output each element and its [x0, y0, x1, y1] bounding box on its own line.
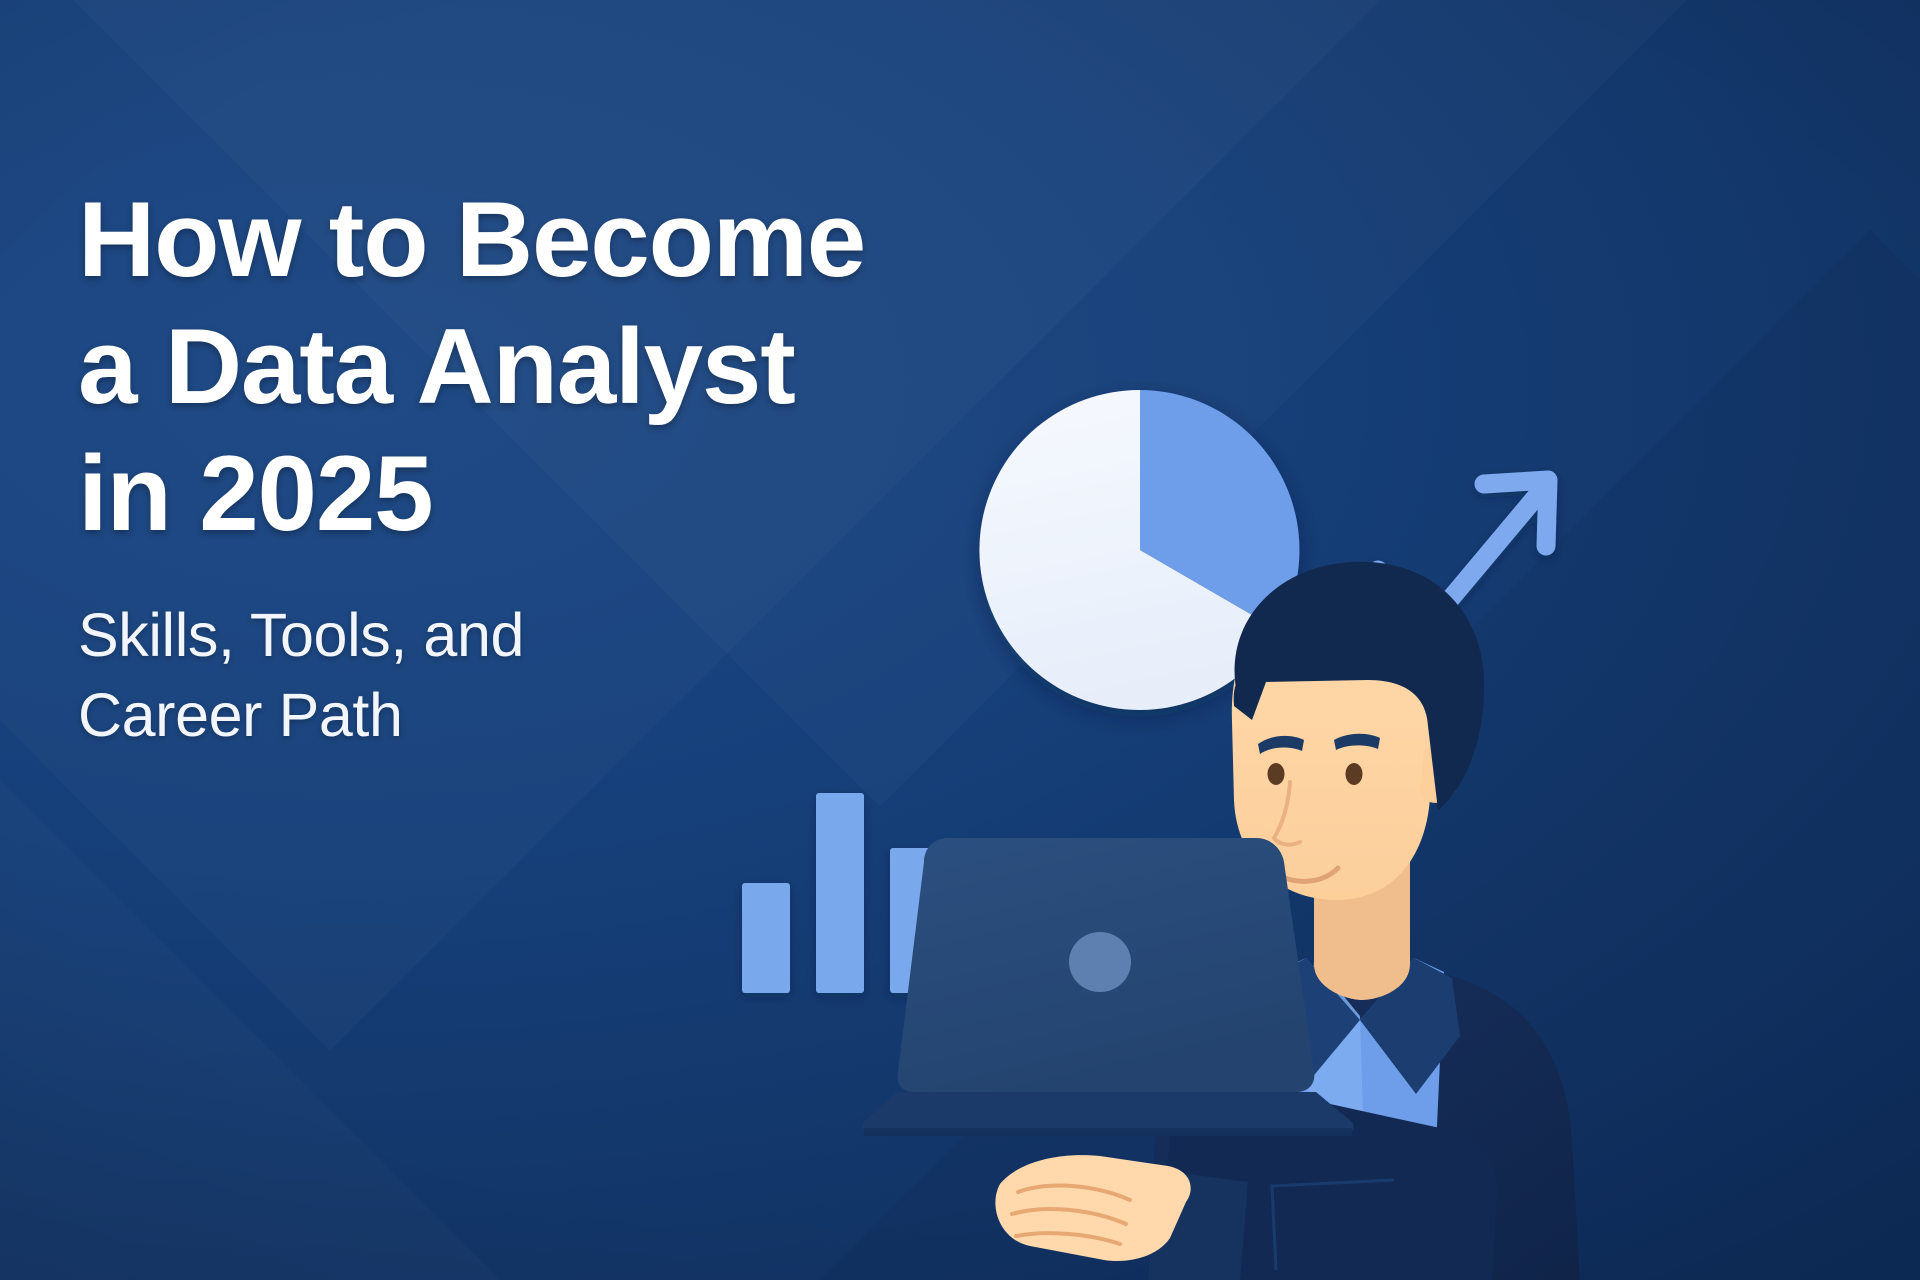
laptop-logo-icon: [1069, 932, 1131, 992]
eye-right: [1346, 763, 1363, 785]
laptop: [862, 838, 1353, 1136]
illustration: [700, 380, 1920, 1280]
bar-1: [742, 883, 790, 993]
bar-2: [816, 793, 864, 993]
hand: [995, 1155, 1190, 1261]
bar-chart: [742, 793, 938, 993]
headline-line-1: How to Become: [78, 176, 978, 303]
hero-banner: How to Become a Data Analyst in 2025 Ski…: [0, 0, 1920, 1280]
eye-left: [1268, 763, 1285, 785]
